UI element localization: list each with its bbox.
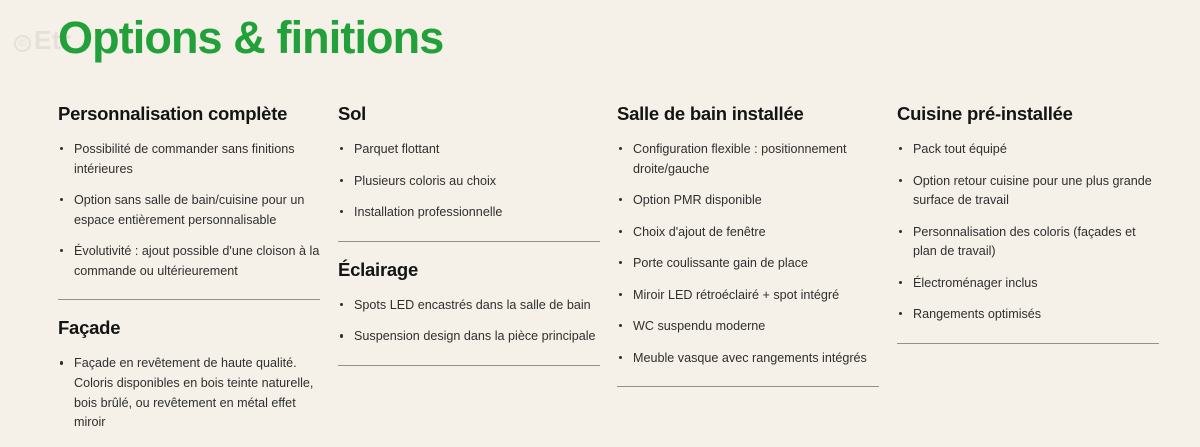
list-item: Option PMR disponible (617, 191, 879, 211)
divider (897, 343, 1159, 344)
list-item: Rangements optimisés (897, 305, 1159, 325)
column-4: Cuisine pré-installéePack tout équipéOpt… (897, 103, 1159, 344)
column-3: Salle de bain installéeConfiguration fle… (617, 103, 879, 387)
bullet-list-sol: Parquet flottantPlusieurs coloris au cho… (338, 140, 600, 223)
section-title-salle-de-bain-installee: Salle de bain installée (617, 103, 879, 125)
list-item: Évolutivité : ajout possible d'une clois… (58, 242, 320, 281)
list-item: Option sans salle de bain/cuisine pour u… (58, 191, 320, 230)
list-item: Plusieurs coloris au choix (338, 172, 600, 192)
column-2: SolParquet flottantPlusieurs coloris au … (338, 103, 600, 366)
list-item: Porte coulissante gain de place (617, 254, 879, 274)
list-item: Pack tout équipé (897, 140, 1159, 160)
list-item: Parquet flottant (338, 140, 600, 160)
page-root: ©Etr Options & finitions Personnalisatio… (0, 0, 1200, 447)
bullet-list-cuisine-pre-installee: Pack tout équipéOption retour cuisine po… (897, 140, 1159, 325)
section-facade: FaçadeFaçade en revêtement de haute qual… (58, 317, 320, 447)
section-title-facade: Façade (58, 317, 320, 339)
list-item: Choix d'ajout de fenêtre (617, 223, 879, 243)
section-eclairage: ÉclairageSpots LED encastrés dans la sal… (338, 259, 600, 347)
list-item: Personnalisation des coloris (façades et… (897, 223, 1159, 262)
divider (617, 386, 879, 387)
list-item: Suspension design dans la pièce principa… (338, 327, 600, 347)
bullet-list-salle-de-bain-installee: Configuration flexible : positionnement … (617, 140, 879, 368)
section-salle-de-bain-installee: Salle de bain installéeConfiguration fle… (617, 103, 879, 368)
list-item: Spots LED encastrés dans la salle de bai… (338, 296, 600, 316)
bullet-list-facade: Façade en revêtement de haute qualité. C… (58, 354, 320, 447)
feature-columns: Personnalisation complètePossibilité de … (0, 103, 1200, 447)
list-item: Miroir LED rétroéclairé + spot intégré (617, 286, 879, 306)
divider (338, 241, 600, 242)
section-title-cuisine-pre-installee: Cuisine pré-installée (897, 103, 1159, 125)
section-sol: SolParquet flottantPlusieurs coloris au … (338, 103, 600, 223)
bullet-list-eclairage: Spots LED encastrés dans la salle de bai… (338, 296, 600, 347)
list-item: Meuble vasque avec rangements intégrés (617, 349, 879, 369)
page-title: Options & finitions (58, 12, 443, 64)
list-item: Configuration flexible : positionnement … (617, 140, 879, 179)
column-1: Personnalisation complètePossibilité de … (58, 103, 320, 447)
divider (58, 299, 320, 300)
divider (338, 365, 600, 366)
list-item: Électroménager inclus (897, 274, 1159, 294)
copyright-icon: © (14, 35, 31, 52)
section-title-eclairage: Éclairage (338, 259, 600, 281)
section-title-personnalisation-complete: Personnalisation complète (58, 103, 320, 125)
section-personnalisation-complete: Personnalisation complètePossibilité de … (58, 103, 320, 281)
list-item: Possibilité de commander sans finitions … (58, 140, 320, 179)
list-item: Façade en revêtement de haute qualité. C… (58, 354, 320, 432)
list-item: Option retour cuisine pour une plus gran… (897, 172, 1159, 211)
list-item: WC suspendu moderne (617, 317, 879, 337)
list-item: Installation professionnelle (338, 203, 600, 223)
bullet-list-personnalisation-complete: Possibilité de commander sans finitions … (58, 140, 320, 281)
section-title-sol: Sol (338, 103, 600, 125)
section-cuisine-pre-installee: Cuisine pré-installéePack tout équipéOpt… (897, 103, 1159, 325)
